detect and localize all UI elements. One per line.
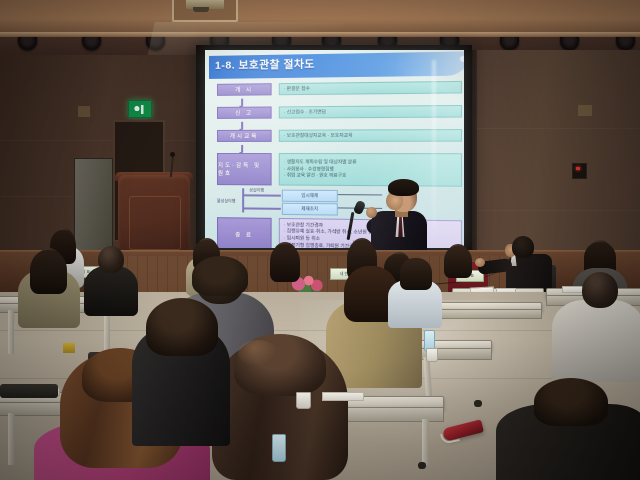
audience-hair — [270, 244, 300, 282]
down-arrow-icon — [241, 145, 243, 152]
flowchart-step-label: 개 시 — [217, 83, 272, 96]
flowchart-branch: 성실이행 불성실이행 임시해제 제재조치 · 종료처리 · 구인·유치 — [217, 188, 462, 217]
desk-leg — [422, 419, 429, 465]
branch-box-sanction: 제재조치 — [282, 203, 338, 216]
wall-seam — [0, 140, 218, 141]
desk-leg — [8, 413, 15, 465]
slide-title: 1-8. 보호관찰 절차도 — [215, 56, 315, 73]
status-led-icon — [576, 167, 580, 170]
av-control-panel[interactable] — [572, 163, 587, 179]
branch-arrow-line — [338, 194, 382, 195]
branch-note: 불성실이행 — [217, 198, 235, 204]
branch-note: 성실이행 — [249, 187, 264, 193]
desk-caster — [418, 462, 426, 469]
audience-head — [146, 298, 218, 356]
flowchart-step-label: 개시교육 — [217, 130, 272, 142]
branch-horizontal-line — [242, 194, 281, 196]
down-arrow-icon — [241, 122, 243, 129]
audience-head — [582, 272, 618, 308]
paper-cup[interactable] — [296, 392, 311, 409]
microphone-head-icon — [170, 152, 175, 157]
flowchart-step-label: 종 료 — [217, 217, 272, 248]
presenter-hand — [366, 207, 377, 218]
handout-paper — [322, 392, 364, 401]
flowchart-row: 신 고 · 신고접수 · 초기면담 — [217, 105, 462, 119]
slide-flowchart: 개 시 · 판결문 접수 신 고 · 신고접수 · 초기면담 — [217, 81, 462, 238]
audience-hair — [400, 258, 432, 290]
wall-seam — [474, 210, 640, 211]
audience-hair — [192, 256, 248, 296]
flowchart-line: · 취업 교육 알선 · 원호 의료구호 — [284, 173, 457, 181]
flowchart-row: 지도·감독 및 원호 · 생활지도 계획수립 및 대상자별 분류 · 사회봉사 … — [217, 153, 462, 187]
audience-right-white-shirt — [552, 300, 640, 382]
side-panel-board — [74, 158, 113, 255]
lectern-front-panel — [129, 196, 181, 250]
exit-sign — [128, 100, 152, 118]
flowchart-row: 개시교육 · 보호관찰대상자교육 · 보호자교육 — [217, 129, 462, 142]
seated-staff-head — [512, 236, 534, 258]
projector-lens-icon — [193, 7, 209, 12]
paper-cup[interactable] — [426, 348, 438, 362]
audience-head — [534, 378, 608, 426]
audience-dark-suit-man-left — [84, 266, 138, 316]
flowchart-step-label: 지도·감독 및 원호 — [217, 153, 272, 185]
water-bottle[interactable] — [272, 434, 286, 462]
lecture-hall-photo: 1-8. 보호관찰 절차도 개 시 · 판결문 접수 신 고 · 신고접수 · … — [0, 0, 640, 480]
exit-running-man-icon — [134, 105, 147, 114]
presenter-hair — [388, 179, 419, 196]
wall-right — [474, 50, 640, 275]
flowchart-line: · 신고접수 · 초기면담 — [284, 108, 457, 116]
flowchart-connector — [217, 145, 462, 153]
down-arrow-icon — [241, 99, 243, 106]
desk-caster — [474, 400, 482, 407]
yellow-box — [63, 343, 75, 353]
chair[interactable] — [0, 384, 58, 398]
wall-plaque — [578, 105, 592, 116]
audience-head — [98, 246, 124, 273]
flowchart-line: · 판결문 접수 — [284, 84, 457, 93]
branch-horizontal-line — [242, 207, 281, 209]
flowchart-row: 개 시 · 판결문 접수 — [217, 81, 462, 96]
desk-leg — [104, 310, 110, 350]
flowchart-step-label: 신 고 — [217, 106, 272, 118]
desk-leg — [8, 310, 14, 354]
audience-hair — [444, 246, 472, 278]
screen-light-streak — [432, 60, 436, 242]
hair-highlight — [238, 340, 278, 366]
branch-box-release: 임시해제 — [282, 190, 338, 203]
flowchart-line: · 보호관찰대상자교육 · 보호자교육 — [284, 132, 457, 139]
seated-staff-hand — [475, 258, 485, 267]
wall-seam — [474, 128, 640, 129]
wall-plaque — [78, 106, 90, 117]
audience-hair — [30, 250, 67, 294]
